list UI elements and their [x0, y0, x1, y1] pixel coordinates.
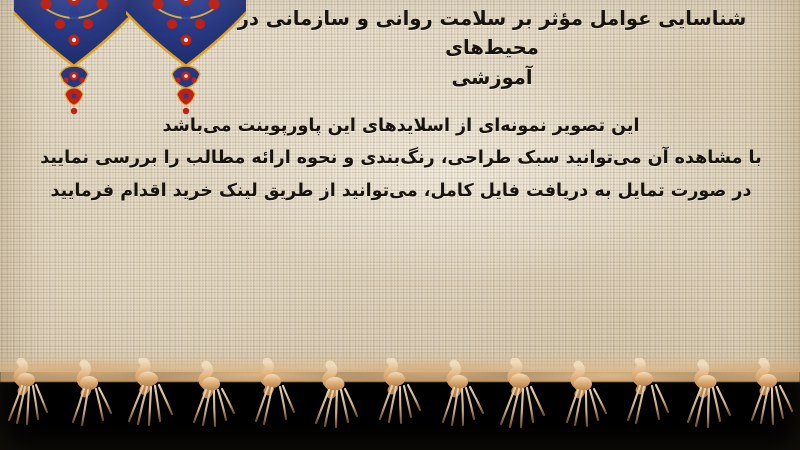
- slide-body-line-3: در صورت تمایل به دریافت فایل کامل، می‌تو…: [16, 177, 786, 205]
- slide-title-line-1: شناسایی عوامل مؤثر بر سلامت روانی و سازم…: [192, 4, 792, 63]
- slide-title: شناسایی عوامل مؤثر بر سلامت روانی و سازم…: [192, 4, 792, 92]
- knotted-carpet-fringe-icon: [0, 358, 800, 450]
- slide-body-line-2: با مشاهده آن می‌توانید سبک طراحی، رنگ‌بن…: [16, 144, 786, 172]
- slide-canvas: شناسایی عوامل مؤثر بر سلامت روانی و سازم…: [0, 0, 800, 450]
- persian-carpet-medallion-icon-left: [14, 0, 134, 116]
- slide-title-line-2: آموزشی: [192, 63, 792, 92]
- slide-body-line-1: این تصویر نمونه‌ای از اسلایدهای این پاور…: [16, 112, 786, 140]
- slide-body: این تصویر نمونه‌ای از اسلایدهای این پاور…: [16, 112, 786, 205]
